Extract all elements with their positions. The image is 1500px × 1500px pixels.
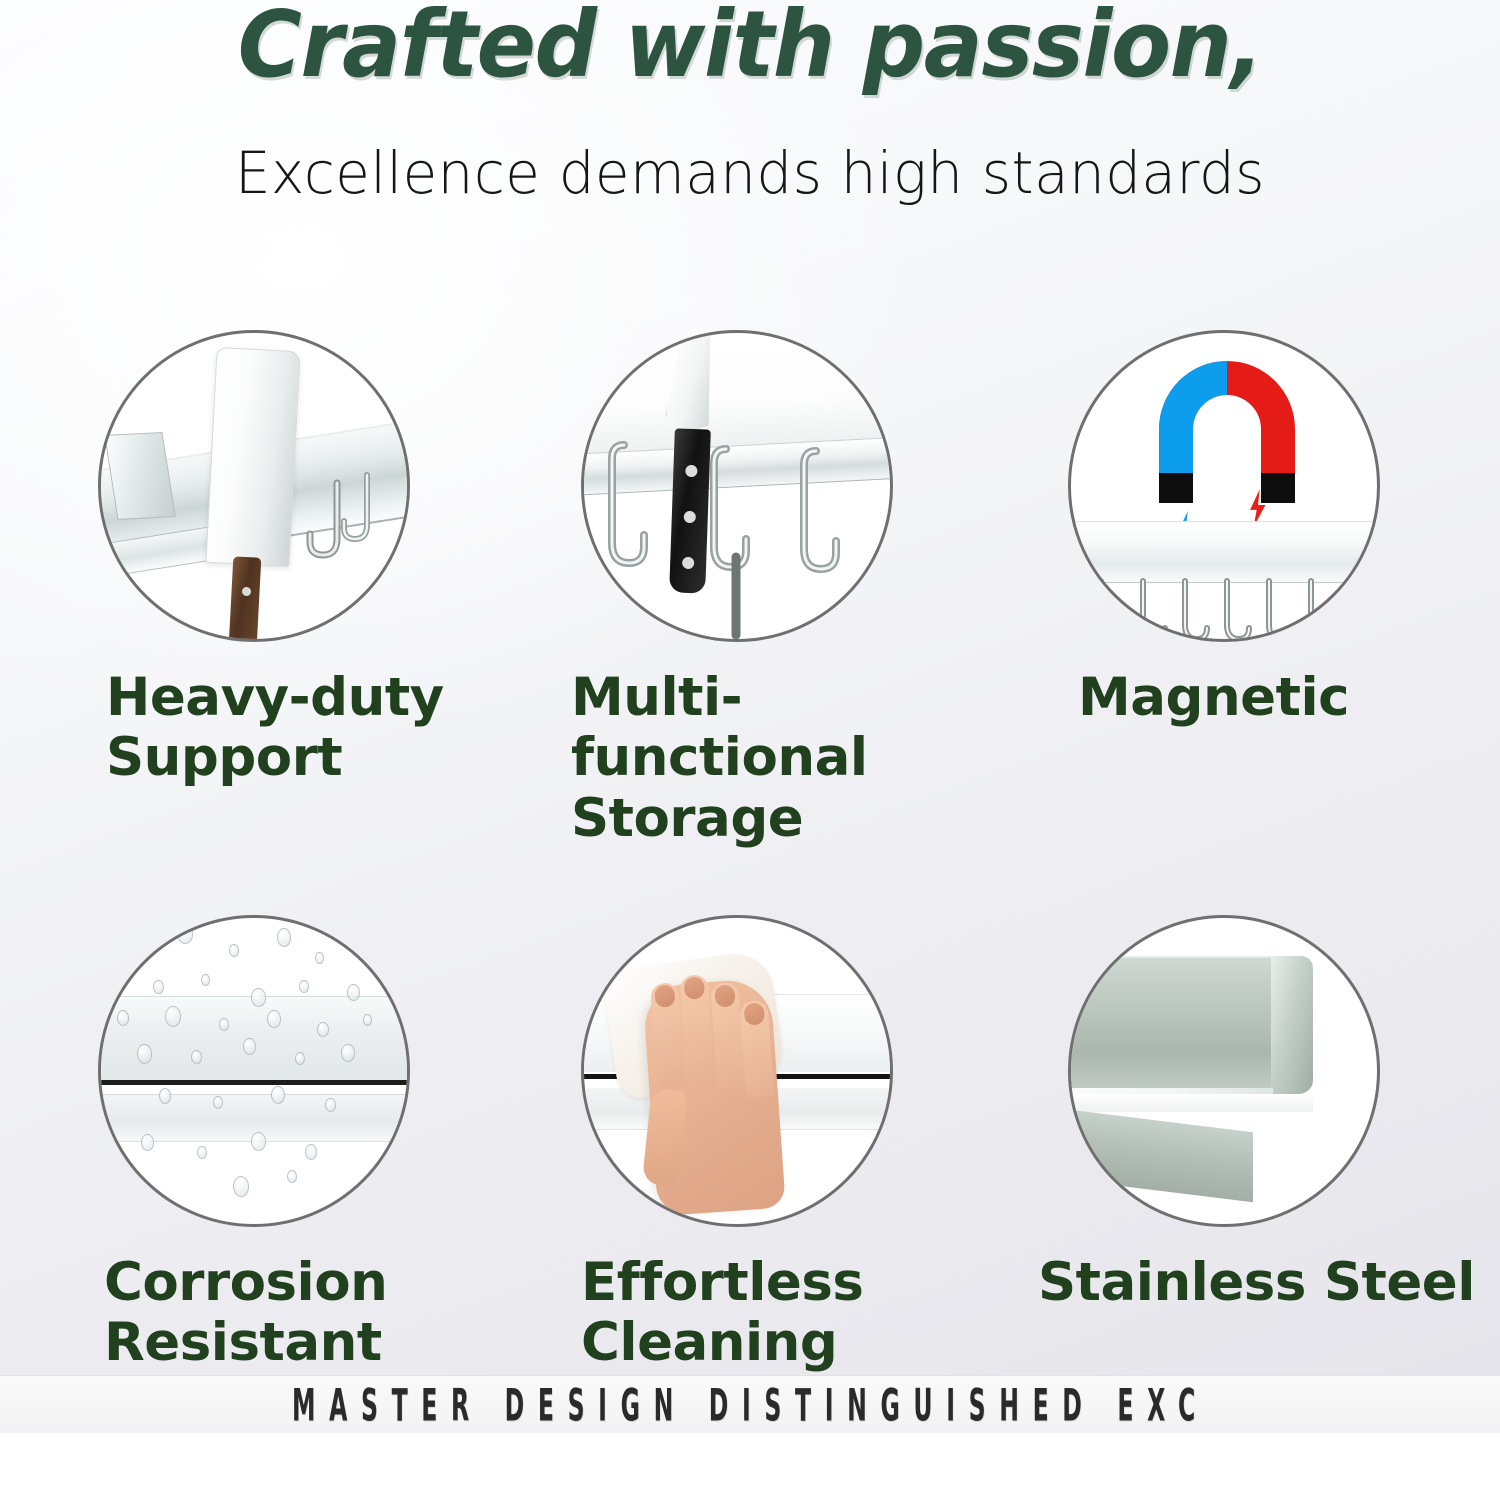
water-droplet [141,1134,154,1151]
feature-card-magnetic: Magnetic [1028,330,1468,728]
steel-bar-lower-body [1068,1104,1253,1202]
water-droplet [243,1038,256,1055]
handle-rivet [684,511,696,523]
cleaver-knife-on-rail-icon [98,330,410,642]
water-droplet [229,944,239,957]
label-line: Resistant [104,1313,508,1373]
feature-label: Heavy-duty Support [68,668,508,789]
feature-image-wrap [581,330,893,642]
label-line: Magnetic [1078,668,1468,728]
label-line: Multi-functional [571,668,993,789]
label-line: Corrosion [104,1253,508,1313]
brushed-steel-bar-closeup-icon [1068,915,1380,1227]
water-droplet [137,1044,152,1064]
water-droplet [129,936,142,953]
bar-gap [1068,1094,1313,1112]
water-droplet [159,1088,171,1104]
feature-image-wrap [581,915,893,1227]
label-line: Cleaning [581,1313,993,1373]
finger [739,1000,774,1098]
six-hooks-icon [1071,333,1380,642]
feature-card-multi-functional-storage: Multi-functional Storage [553,330,993,849]
water-droplet [213,1096,223,1109]
water-droplet [219,1018,229,1031]
finger [650,982,685,1088]
finger [710,982,745,1090]
water-droplet [325,1098,336,1112]
water-droplet [317,1022,329,1037]
label-line: Storage [571,789,993,849]
water-droplet [347,984,360,1001]
water-droplet [305,1144,317,1160]
page-subheadline: Excellence demands high standards [23,142,1478,206]
feature-image-wrap [98,915,410,1227]
water-droplet [165,1006,181,1027]
steel-bar-lower-end-cap [1249,1122,1289,1199]
s-hooks-icon [584,333,893,642]
fingernail [684,976,705,999]
water-droplets-on-bar-icon [98,915,410,1227]
label-line: Support [106,728,508,788]
feature-image-wrap [98,330,410,642]
label-line: Effortless [581,1253,993,1313]
horseshoe-magnet-icon [1068,330,1380,642]
water-droplet [299,980,309,993]
hand [642,978,786,1216]
feature-label: Stainless Steel [1028,1253,1468,1313]
page-headline: Crafted with passion, [38,0,1463,92]
handle-rivet [685,465,697,477]
fingernail [744,1002,765,1025]
feature-card-effortless-cleaning: Effortless Cleaning [553,915,993,1374]
footer-banner-text: MASTER DESIGN DISTINGUISHED EXC [292,1379,1209,1431]
feature-image-wrap [1068,915,1380,1227]
cleaver-blade [205,347,300,567]
water-droplet [267,1010,281,1028]
water-droplet [251,988,266,1007]
water-droplet [197,1146,207,1159]
hand-wiping-cloth-icon [581,915,893,1227]
bar-seam-line [98,1080,410,1085]
water-droplet [233,1176,249,1197]
feature-card-stainless-steel: Stainless Steel [1028,915,1468,1313]
water-droplet [153,980,164,994]
feature-card-corrosion-resistant: Corrosion Resistant [68,915,508,1374]
water-droplet [177,924,193,944]
water-droplet [341,1044,355,1062]
water-droplet [287,1170,297,1183]
water-droplet [315,952,324,964]
label-line: Stainless Steel [1038,1253,1468,1313]
cleaver-wood-handle [229,556,262,642]
handle-rivet [682,557,694,569]
water-droplet [191,1050,202,1064]
feature-row-top: Heavy-duty Support [0,330,1500,915]
knife-and-hooks-icon [581,330,893,642]
water-droplet [295,1052,305,1065]
steel-bar-upper [98,996,410,1080]
water-droplet [363,1014,372,1026]
water-droplet [201,974,210,986]
feature-grid: Heavy-duty Support [0,330,1500,1500]
finger [679,974,715,1088]
feature-card-heavy-duty-support: Heavy-duty Support [68,330,508,789]
steel-bar-body [1068,956,1273,1094]
steel-bar-end-cap [1271,956,1313,1094]
water-droplet [251,1132,266,1151]
feature-image-wrap [1068,330,1380,642]
label-line: Heavy-duty [106,668,508,728]
feature-label: Magnetic [1028,668,1468,728]
water-droplet [117,1010,129,1026]
fingernail [714,984,735,1007]
footer-banner: MASTER DESIGN DISTINGUISHED EXC [0,1375,1500,1433]
infographic-page: Crafted with passion, Excellence demands… [0,0,1500,1433]
water-droplet [349,934,361,950]
feature-label: Multi-functional Storage [553,668,993,849]
feature-label: Effortless Cleaning [553,1253,993,1374]
water-droplet [277,928,291,947]
water-droplet [271,1086,285,1104]
knife-black-handle [669,428,711,593]
fingernail [654,985,675,1008]
feature-label: Corrosion Resistant [68,1253,508,1374]
